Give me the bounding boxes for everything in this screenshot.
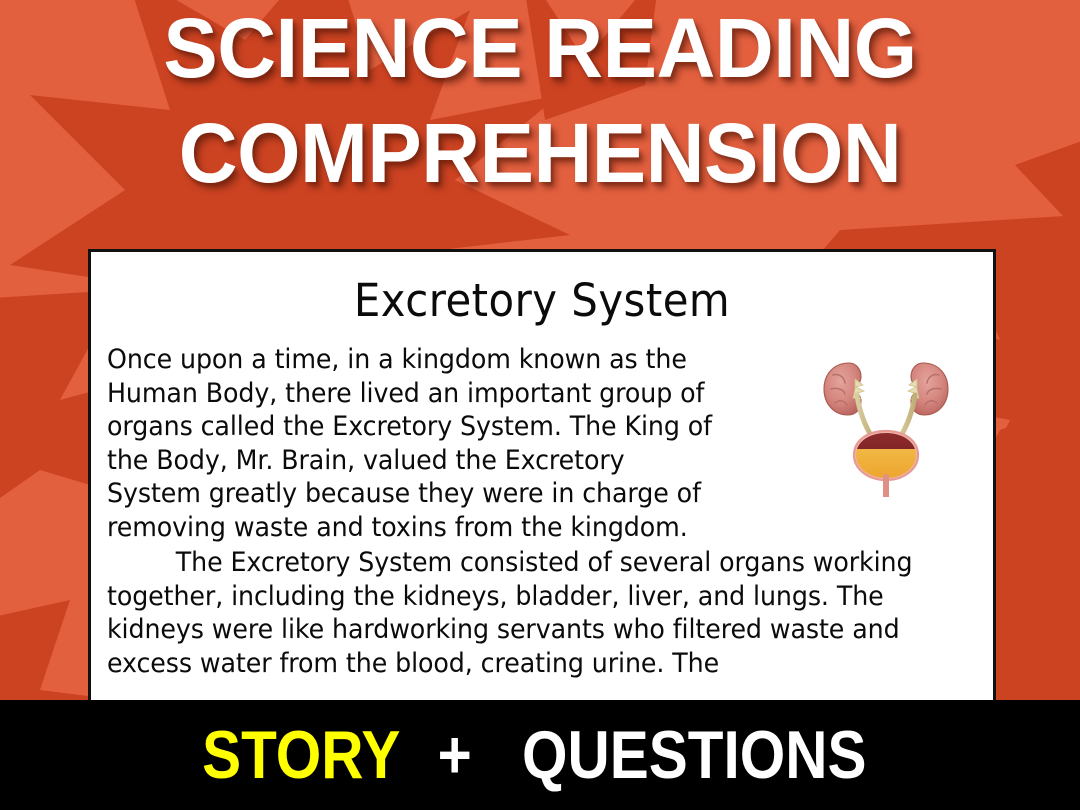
worksheet-preview: Excretory System (88, 249, 996, 704)
worksheet-title: Excretory System (123, 274, 962, 327)
urinary-system-illustration (811, 347, 961, 497)
bladder-group (854, 431, 918, 480)
headline-line-1: SCIENCE READING (16, 8, 1064, 89)
headline-line-2: COMPREHENSION (16, 113, 1064, 194)
banner-questions-label: QUESTIONS (522, 721, 866, 789)
banner-story-label: STORY (202, 721, 400, 789)
banner-plus-label: + (422, 721, 489, 789)
worksheet-body: Once upon a time, in a kingdom known as … (107, 343, 983, 680)
bottom-banner: STORY + QUESTIONS (0, 700, 1080, 810)
story-paragraph-1: Once upon a time, in a kingdom known as … (107, 343, 718, 544)
poster-root: SCIENCE READING COMPREHENSION Excretory … (0, 0, 1080, 810)
story-paragraph-2: The Excretory System consisted of severa… (107, 546, 967, 680)
poster-headline: SCIENCE READING COMPREHENSION (0, 8, 1080, 195)
